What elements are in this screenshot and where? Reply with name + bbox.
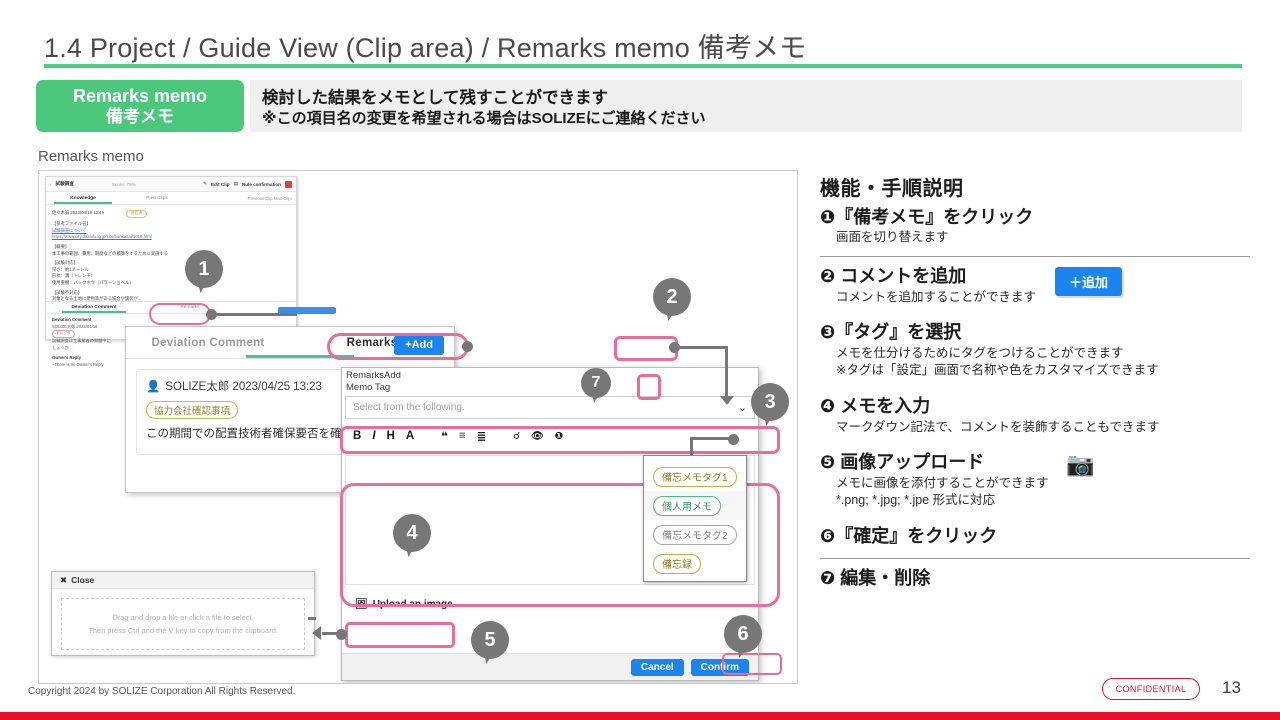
owner-reply-text: ~There is no Owner's Reply — [52, 362, 111, 369]
body-line-0: 【参考ファイル名】 — [52, 221, 290, 228]
image-icon: 🖼 — [355, 599, 368, 610]
body-line-1[interactable]: 試験調査について — [52, 228, 290, 235]
cancel-button[interactable]: Cancel — [631, 659, 684, 676]
body-line-8: 使用重機：バックホウ（パワーショベル） — [52, 280, 290, 287]
image-upload-header: ✖ Close — [52, 572, 314, 589]
upload-image-button[interactable]: 🖼 Upload an image — [351, 595, 457, 614]
step-5-number: ❺ — [820, 452, 835, 472]
image-icon: 📷 — [1066, 451, 1095, 478]
banner-chip-en: Remarks memo — [73, 86, 207, 106]
callout-5-label: 5 — [484, 629, 495, 652]
step-1-desc-0: 画面を切り替えます — [836, 229, 1250, 247]
callout-7: 7 — [581, 368, 611, 398]
step-3-number: ❸ — [820, 322, 835, 342]
preview-eye-icon[interactable]: 👁 — [531, 431, 544, 442]
callout-tail — [737, 644, 750, 658]
edit-clip-button[interactable]: Edit Clip — [211, 182, 230, 187]
clip-nav[interactable]: ‹Previous Clip Next Clip› — [246, 196, 292, 201]
connector-arrow-upload — [312, 626, 321, 640]
tag-option-4: 備忘録 — [653, 554, 701, 574]
italic-icon[interactable]: I — [372, 430, 375, 442]
instruction-panel: 機能・手順説明 ❶『備考メモ』をクリック 画面を切り替えます ❷ コメントを追加… — [820, 172, 1250, 590]
banner-chip-jp: 備考メモ — [106, 107, 174, 126]
back-icon[interactable]: ‹ — [50, 182, 52, 187]
add-comment-button[interactable]: ＋追加 — [1055, 267, 1122, 296]
lower-title: Deviation Comment — [52, 317, 111, 324]
app-body: 佐々木誠 2023/04/18 12:49対応済 【参考ファイル名】 試験調査に… — [46, 205, 296, 308]
dialog-title: RemarksAdd — [342, 368, 758, 381]
app-tabs: Knowledge Past Clips ‹Previous Clip Next… — [46, 192, 296, 205]
unordered-list-icon[interactable]: ≡ — [459, 430, 466, 442]
body-line-5: 【試験対応】 — [52, 260, 290, 267]
lower-author: SOLIZE太郎 2023/04/18 — [52, 324, 111, 331]
step-1: ❶『備考メモ』をクリック 画面を切り替えます — [820, 206, 1250, 247]
remark-author: SOLIZE太郎 2023/04/25 13:23 — [165, 378, 322, 394]
file-dropzone[interactable]: Drag and drop a file or click a file to … — [61, 598, 305, 650]
step-2-label: コメントを追加 — [840, 266, 966, 286]
rule-confirmation-button[interactable]: Rule confirmation — [242, 182, 281, 187]
step-4: ❹ メモを入力 マークダウン記法で、コメントを装飾することもできます — [820, 395, 1250, 436]
callout-tail — [666, 307, 679, 321]
callout-1: 1 — [185, 250, 223, 288]
divider-1 — [820, 256, 1250, 257]
callout-7-label: 7 — [592, 374, 601, 392]
add-button[interactable]: +Add — [394, 335, 444, 355]
slide-root: 1.4 Project / Guide View (Clip area) / R… — [0, 0, 1280, 720]
callout-1-label: 1 — [198, 258, 209, 281]
person-icon: 👤 — [146, 379, 160, 393]
clip-name: 試験調査 — [56, 181, 74, 187]
step-3-desc-0: メモを仕分けるためにタグをつけることができます — [836, 345, 1250, 363]
connector-line-chev — [690, 437, 732, 440]
memo-tag-placeholder: Select from the following. — [353, 402, 465, 413]
connector-arrow-add — [720, 396, 734, 405]
step-5-desc-0: メモに画像を添付することができます — [836, 475, 1250, 493]
quote-icon[interactable]: ❝ — [441, 429, 448, 443]
screenshot-frame: ‹ 試験調査 Score: 79% ✎ Edit Clip ▤ Rule con… — [38, 170, 798, 684]
body-line-2[interactable]: https://www.city.dazaifu.lg.jp/site/bunk… — [52, 234, 290, 241]
remark-tag: 協力会社確認事項 — [146, 401, 238, 419]
heading-icon[interactable]: H — [387, 430, 395, 442]
callout-3: 3 — [751, 383, 789, 421]
step-4-title: ❹ メモを入力 — [820, 395, 1250, 418]
tag-option-2: 個人用メモ — [653, 496, 721, 516]
step-2-number: ❷ — [820, 266, 835, 286]
banner-line-2: ※この項目名の変更を希望される場合はSOLIZEにご連絡ください — [262, 109, 1242, 129]
tab-deviation-comment[interactable]: Deviation Comment — [126, 337, 290, 349]
title-underline — [44, 64, 1242, 68]
callout-tail — [406, 543, 419, 557]
image-upload-window: ✖ Close Drag and drop a file or click a … — [51, 571, 315, 656]
callout-2-label: 2 — [666, 286, 677, 309]
step-4-number: ❹ — [820, 396, 835, 416]
font-icon[interactable]: A — [406, 430, 414, 442]
page-number: 13 — [1222, 678, 1241, 698]
tag-option-row[interactable]: 備忘録 — [644, 549, 746, 578]
owner-reply-title: Owner's Reply — [52, 355, 111, 362]
tab-knowledge[interactable]: Knowledge — [46, 196, 120, 201]
spacer-3 — [820, 380, 1250, 390]
step-1-number: ❶ — [820, 207, 835, 227]
step-6-title: ❻『確定』をクリック — [820, 525, 1250, 548]
page-title: 1.4 Project / Guide View (Clip area) / R… — [44, 26, 806, 65]
connector-line-upload — [322, 632, 344, 635]
step-4-desc-0: マークダウン記法で、コメントを装飾することもできます — [836, 419, 1250, 437]
step-5: ❺ 画像アップロード 📷 メモに画像を添付することができます *.png; *.… — [820, 451, 1250, 510]
dialog-field-label: Memo Tag — [342, 381, 758, 396]
screenshot-caption: Remarks memo — [38, 148, 144, 165]
callout-tail — [484, 650, 497, 664]
step-3-desc-1: ※タグは「設定」画面で名称や色をカスタマイズできます — [836, 362, 1250, 380]
body-line-4: 本工事の範囲、費用、期間などの積算をするために実施する — [52, 251, 290, 258]
dropzone-line-2: Then press Ctrl and the V key to copy fr… — [88, 624, 278, 638]
step-5-desc-1: *.png; *.jpg; *.jpe 形式に対応 — [836, 492, 1250, 510]
upload-image-label: Upload an image — [373, 599, 453, 610]
banner-line-1: 検討した結果をメモとして残すことができます — [262, 87, 1242, 109]
divider-2 — [820, 558, 1250, 559]
callout-4: 4 — [393, 514, 431, 552]
section-tab-deviation-comment[interactable]: Deviation Comment — [46, 305, 142, 310]
step-7: ❼ 編集・削除 — [820, 567, 1250, 590]
app-header: ‹ 試験調査 Score: 79% ✎ Edit Clip ▤ Rule con… — [46, 177, 296, 192]
step-6: ❻『確定』をクリック — [820, 525, 1250, 548]
step-7-number: ❼ — [820, 568, 835, 588]
connector-line-1 — [212, 313, 297, 316]
callout-3-label: 3 — [764, 391, 775, 414]
banner-chip: Remarks memo 備考メモ — [36, 80, 244, 132]
app-author: 佐々木誠 2023/04/18 12:49 — [52, 210, 104, 215]
callout-tail — [198, 279, 211, 293]
tag-option-row[interactable]: 備忘メモタグ2 — [644, 520, 746, 549]
tag-option-row[interactable]: 備忘メモタグ1 — [644, 462, 746, 491]
link-icon[interactable]: ☌ — [513, 431, 520, 442]
step-2-title: ❷ コメントを追加 — [820, 265, 1250, 288]
callout-6: 6 — [724, 615, 762, 653]
dropzone-line-1: Drag and drop a file or click a file to … — [112, 611, 253, 625]
ordered-list-icon[interactable]: ≣ — [477, 429, 487, 443]
tag-option-1: 備忘メモタグ1 — [653, 467, 737, 487]
tab-past-clips[interactable]: Past Clips — [120, 196, 194, 201]
dialog-footer: Cancel Confirm — [342, 653, 758, 680]
app-lower-panel: Deviation Comment SOLIZE太郎 2023/04/18 デレ… — [46, 314, 117, 371]
connector-line-add-v — [725, 346, 728, 398]
step-2-desc-0: コメントを追加することができます — [836, 289, 1250, 307]
spacer-2 — [820, 306, 1250, 316]
confirm-button[interactable]: Confirm — [691, 659, 749, 676]
step-6-number: ❻ — [820, 526, 835, 546]
help-icon[interactable]: ❶ — [555, 431, 563, 442]
app-status-badge: 対応済 — [126, 210, 147, 218]
spacer-5 — [820, 510, 1250, 520]
panel-heading: 機能・手順説明 — [820, 172, 1250, 201]
callout-tail — [592, 392, 603, 403]
step-7-label: 編集・削除 — [840, 568, 930, 588]
body-line-3: 【概要】 — [52, 244, 290, 251]
step-1-title: ❶『備考メモ』をクリック — [820, 206, 1250, 229]
step-1-label: 『備考メモ』をクリック — [835, 207, 1033, 227]
step-6-label: 『確定』をクリック — [835, 526, 997, 546]
step-5-title: ❺ 画像アップロード — [820, 451, 1250, 474]
footer-red-bar — [0, 712, 1280, 720]
tag-dropdown-menu: 備忘メモタグ1 個人用メモ 備忘メモタグ2 備忘録 — [643, 455, 747, 582]
connector-line-close-h — [308, 617, 316, 620]
book-icon: ▤ — [234, 181, 238, 187]
memo-tag-select[interactable]: Select from the following. ⌄ — [345, 396, 755, 419]
step-7-title: ❼ 編集・削除 — [820, 567, 1250, 590]
step-3: ❸『タグ』を選択 メモを仕分けるためにタグをつけることができます ※タグは「設定… — [820, 321, 1250, 380]
callout-6-label: 6 — [737, 623, 748, 646]
close-label: Close — [71, 575, 94, 585]
step-5-label: 画像アップロード — [840, 452, 984, 472]
step-3-title: ❸『タグ』を選択 — [820, 321, 1250, 344]
callout-2: 2 — [653, 278, 691, 316]
connector-dot-remarks — [462, 341, 473, 352]
close-x-icon[interactable]: ✖ — [60, 575, 67, 586]
chevron-down-icon[interactable]: ⌄ — [738, 401, 747, 414]
editor-toolbar: B I H A ❝ ≡ ≣ ☌ 👁 ❶ — [345, 425, 755, 447]
callout-4-label: 4 — [406, 522, 417, 545]
copyright: Copyright 2024 by SOLIZE Corporation All… — [28, 686, 295, 697]
section-tab-remarks[interactable]: Remarks — [142, 305, 238, 310]
lower-text-2: しょうか — [52, 345, 111, 352]
step-2: ❷ コメントを追加 ＋追加 コメントを追加することができます — [820, 265, 1250, 306]
banner-text: 検討した結果をメモとして残すことができます ※この項目名の変更を希望される場合は… — [250, 80, 1242, 132]
step-4-label: メモを入力 — [840, 396, 930, 416]
step-3-label: 『タグ』を選択 — [835, 322, 961, 342]
delete-icon[interactable] — [285, 181, 292, 188]
tag-option-row[interactable]: 個人用メモ — [644, 491, 746, 520]
bold-icon[interactable]: B — [353, 430, 361, 442]
callout-tail — [764, 412, 777, 426]
callout-5: 5 — [471, 621, 509, 659]
spacer-4 — [820, 436, 1250, 446]
confidential-badge: CONFIDENTIAL — [1102, 678, 1200, 700]
connector-line-add-h — [676, 346, 728, 349]
score-label: Score: 79% — [112, 182, 136, 187]
tag-option-3: 備忘メモタグ2 — [653, 525, 737, 545]
pencil-icon: ✎ — [203, 181, 207, 187]
banner: Remarks memo 備考メモ 検討した結果をメモとして残すことができます … — [36, 80, 1242, 132]
